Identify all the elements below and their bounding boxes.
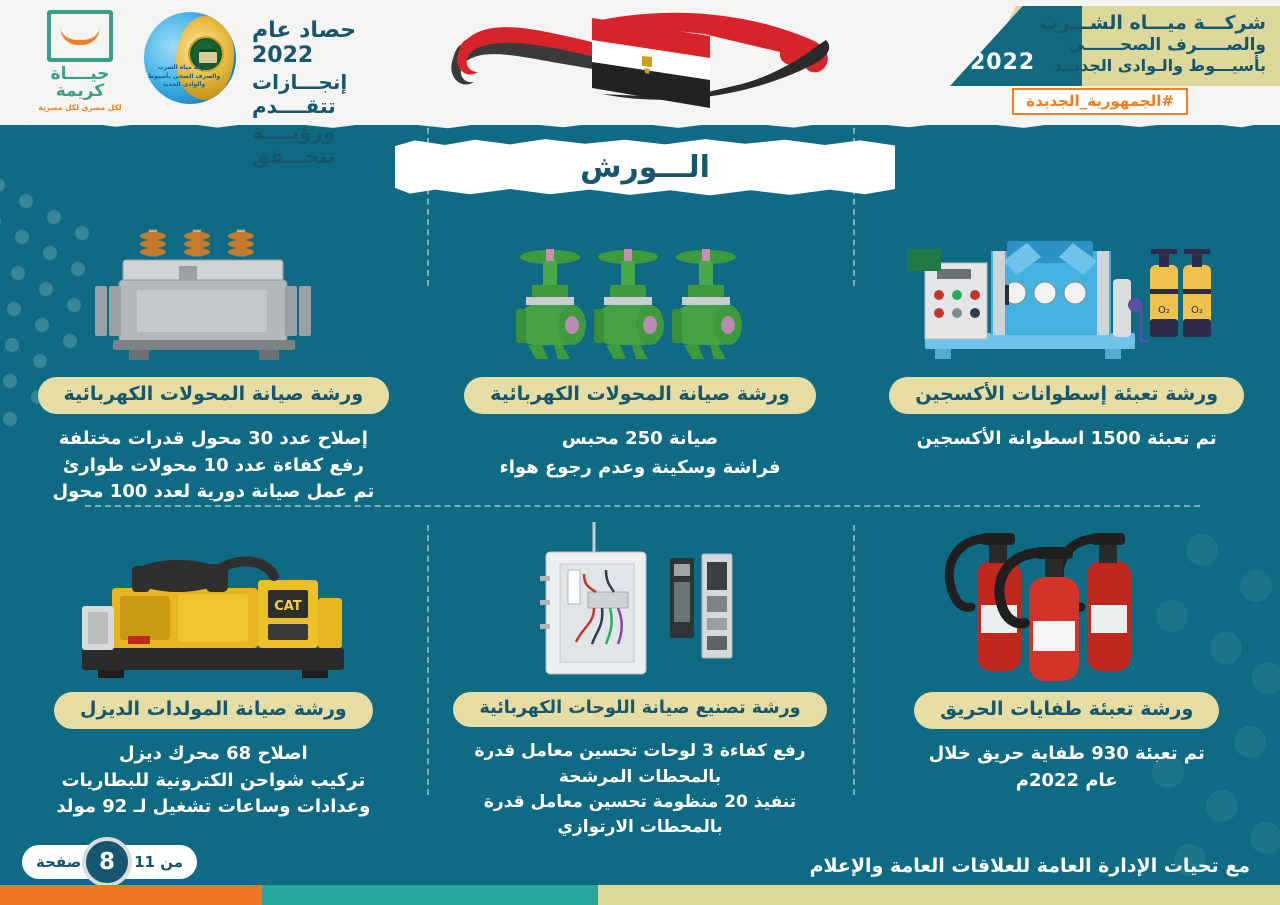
bottom-color-bar	[0, 885, 1280, 905]
company-banner: 2022 شركـــة ميـــاه الشـــرب والصـــــر…	[950, 6, 1280, 86]
card-line: فراشة وسكينة وعدم رجوع هواء	[500, 455, 781, 482]
card-line: اصلاح 68 محرك ديزل	[119, 741, 308, 768]
page-of-label: من 11	[134, 853, 183, 871]
page-number-badge: 8	[82, 837, 132, 887]
egypt-flag-ribbon-icon	[442, 4, 842, 116]
workshop-card: ورشة تصنيع صيانة اللوحات الكهربائية رفع …	[427, 520, 854, 840]
smile-box-logo-icon	[47, 10, 113, 62]
smile-icon	[60, 27, 100, 45]
red-fire-extinguishers-icon	[937, 526, 1197, 686]
hashtag-badge: #الجمهورية_الجديدة	[1012, 88, 1188, 115]
emblem-caption: شركة مياه الشرب والصرف الصحي بأسيوط والو…	[146, 64, 222, 90]
campaign-line2: إنجـــازات تتقــــدم	[252, 70, 408, 118]
page-label: صفحة	[36, 853, 81, 871]
card-line: تم تعبئة 1500 اسطوانة الأكسجين	[917, 426, 1217, 453]
separator-vertical	[427, 525, 429, 795]
hayah-karima-tagline: لكل مصري لكل مصرية	[38, 103, 121, 112]
workshop-card: ورشة صيانة المحولات الكهربائية صيانة 250…	[427, 205, 854, 520]
page-header: حيــــاة كريمة لكل مصري لكل مصرية شركة م…	[0, 0, 1280, 125]
workshop-card: ورشة تعبئة طفايات الحريق تم تعبئة 930 طف…	[853, 520, 1280, 840]
card-line: رفع كفاءة 3 لوحات تحسين معامل قدرة	[474, 739, 805, 764]
card-line: وعدادات وساعات تشغيل لـ 92 مولد	[56, 794, 370, 821]
card-title: ورشة تعبئة طفايات الحريق	[914, 692, 1219, 729]
credit-text: مع تحيات الإدارة العامة للعلاقات العامة …	[810, 855, 1250, 877]
electrical-control-panel-icon	[510, 526, 770, 686]
company-banner-line3: بأسيـــوط والـوادى الجديــد	[1016, 56, 1266, 76]
electrical-power-transformer-icon	[93, 211, 333, 371]
campaign-line1: حصاد عام 2022	[252, 18, 408, 68]
separator-vertical	[853, 525, 855, 795]
workshops-grid: O₂ O₂ ورشة تعبئة إسطوانات الأكسجين تم تع…	[0, 205, 1280, 840]
bottom-bar-teal	[262, 885, 598, 905]
card-title: ورشة تصنيع صيانة اللوحات الكهربائية	[453, 692, 826, 727]
svg-text:CAT: CAT	[275, 599, 303, 614]
card-title: ورشة صيانة المحولات الكهربائية	[464, 377, 816, 414]
card-line: بالمحطات المرشحة	[559, 765, 721, 790]
yellow-diesel-generator-icon: CAT	[68, 526, 358, 686]
svg-text:O₂: O₂	[1158, 305, 1170, 316]
card-line: رفع كفاءة عدد 10 محولات طوارئ	[63, 453, 364, 480]
bottom-bar-khaki	[598, 885, 1280, 905]
card-line: تنفيذ 20 منظومة تحسين معامل قدرة	[484, 790, 796, 815]
campaign-title: حصاد عام 2022 إنجـــازات تتقــــدم ورؤيـ…	[252, 18, 408, 168]
page-title-banner: الـــورش	[395, 138, 895, 196]
hayah-karima-line2: كريمة	[56, 83, 105, 100]
oxygen-compressor-and-cylinders-icon: O₂ O₂	[907, 211, 1227, 371]
company-banner-line2: والصـــــرف الصحــــــى	[1016, 35, 1266, 56]
bottom-bar-orange	[0, 885, 262, 905]
workshop-card: O₂ O₂ ورشة تعبئة إسطوانات الأكسجين تم تع…	[853, 205, 1280, 520]
card-line: إصلاح عدد 30 محول قدرات مختلفة	[59, 426, 368, 453]
card-title: ورشة صيانة المولدات الديزل	[54, 692, 373, 729]
hayah-karima-logo: حيــــاة كريمة لكل مصري لكل مصرية	[28, 10, 132, 118]
svg-text:O₂: O₂	[1191, 305, 1203, 316]
card-line: تم عمل صيانة دورية لعدد 100 محول	[53, 479, 375, 506]
campaign-line3: ورؤيــــة تتحـــقق	[252, 120, 408, 168]
card-title: ورشة صيانة المحولات الكهربائية	[38, 377, 390, 414]
page-title: الـــورش	[395, 138, 895, 196]
separator-horizontal	[85, 505, 1200, 507]
card-line: تم تعبئة 930 طفاية حريق خلال	[929, 741, 1205, 768]
green-gate-valves-icon	[510, 211, 770, 371]
workshop-card: ورشة صيانة المحولات الكهربائية إصلاح عدد…	[0, 205, 427, 520]
card-title: ورشة تعبئة إسطوانات الأكسجين	[889, 377, 1244, 414]
card-line: تركيب شواحن الكترونية للبطاريات	[61, 768, 365, 795]
workshop-card: CAT ورشة صيانة المولدات الديزل اصلاح 68 …	[0, 520, 427, 840]
company-banner-line1: شركـــة ميـــاه الشـــرب	[1016, 12, 1266, 35]
card-line: بالمحطات الارتوازي	[557, 815, 722, 840]
company-globe-emblem-icon: شركة مياه الشرب والصرف الصحي بأسيوط والو…	[144, 12, 236, 104]
card-line: صيانة 250 محبس	[562, 426, 718, 453]
card-line: عام 2022م	[1016, 768, 1118, 795]
